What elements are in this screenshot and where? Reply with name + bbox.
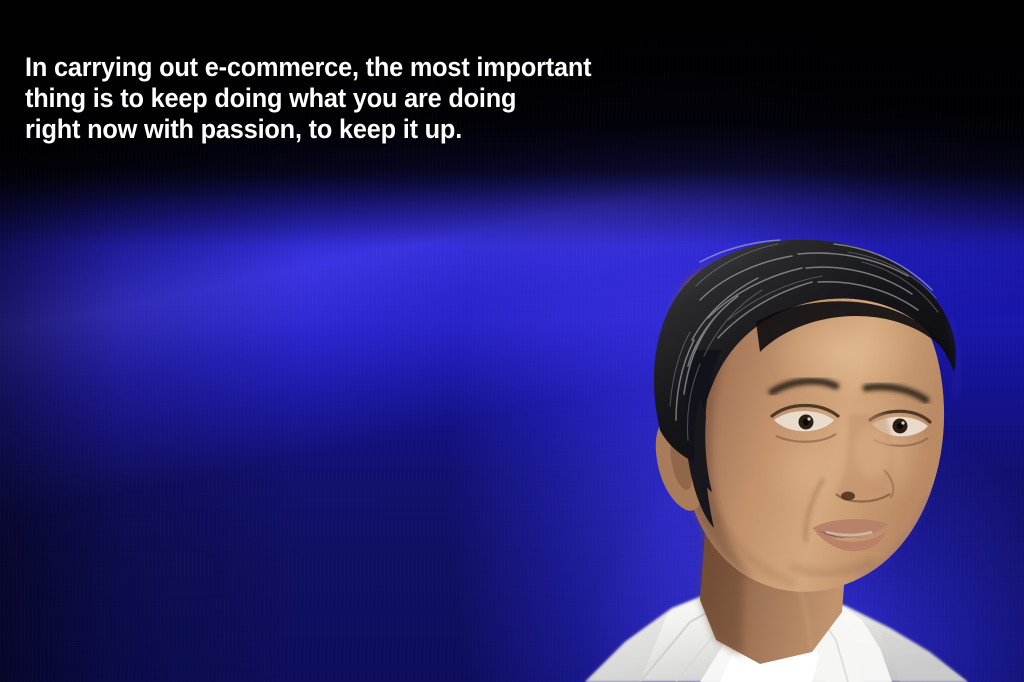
quote-overlay: In carrying out e-commerce, the most imp… [25, 52, 765, 145]
quote-line-1: In carrying out e-commerce, the most imp… [25, 52, 732, 83]
quote-image-canvas: In carrying out e-commerce, the most imp… [0, 0, 1024, 682]
quote-line-3: right now with passion, to keep it up. [25, 114, 732, 145]
quote-line-2: thing is to keep doing what you are doin… [25, 83, 732, 114]
